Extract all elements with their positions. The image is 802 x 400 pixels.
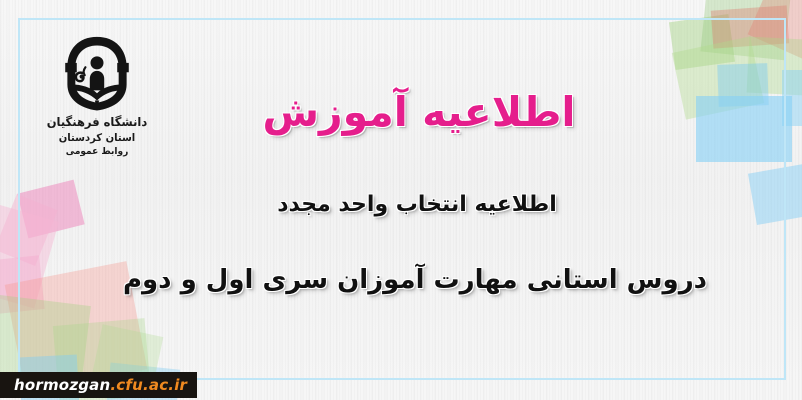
watermark-site-domain: .cfu.ac.ir <box>110 376 187 394</box>
green-square-top-right-3 <box>747 37 802 96</box>
body-text-line-1: اطلاعیه انتخاب واحد مجدد <box>16 192 802 217</box>
logo-caption-department: روابط عمومی <box>42 146 152 159</box>
red-square-top-right <box>711 5 789 48</box>
announcement-banner: دانشگاه فرهنگیان استان کردستان روابط عمو… <box>0 0 802 400</box>
red-wedge-top-right <box>748 0 802 71</box>
site-watermark: hormozgan .cfu.ac.ir <box>0 372 197 398</box>
headline-title: اطلاعیه آموزش <box>18 88 802 136</box>
body-text-line-2: دروس استانی مهارت آموزان سری اول و دوم <box>14 265 802 295</box>
green-square-top-right-1 <box>669 14 735 70</box>
watermark-site-name: hormozgan <box>14 376 110 394</box>
frame-border-top <box>18 18 786 20</box>
green-square-top-right-2 <box>700 0 791 60</box>
